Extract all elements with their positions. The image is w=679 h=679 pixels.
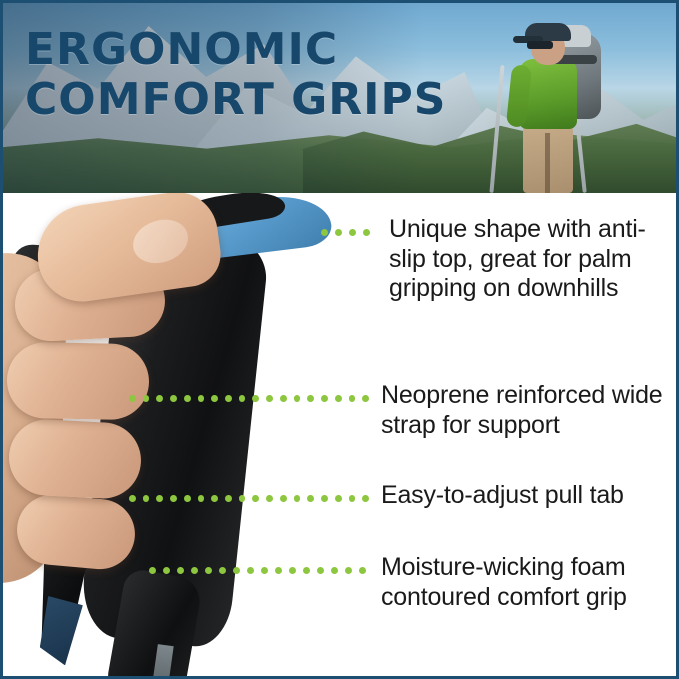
leader-dot — [335, 229, 342, 236]
leader-dot — [252, 495, 259, 502]
leader-dot — [239, 395, 246, 402]
product-infographic: ERGONOMIC COMFORT GRIPS — [0, 0, 679, 679]
leader-dot — [266, 395, 273, 402]
leader-dot — [184, 495, 191, 502]
leader-dot — [321, 229, 328, 236]
leader-dot — [143, 395, 150, 402]
leader-dot — [239, 495, 246, 502]
leader-dot — [163, 567, 170, 574]
leader-dot — [233, 567, 240, 574]
leader-dot — [211, 495, 218, 502]
leader-dot — [198, 495, 205, 502]
leader-dot — [280, 495, 287, 502]
leader-dot — [170, 495, 177, 502]
leader-dot — [362, 495, 369, 502]
leader-dot — [294, 495, 301, 502]
leader-dot — [198, 395, 205, 402]
product-photo-area: Unique shape with anti-slip top, great f… — [3, 193, 679, 679]
callout-foam-grip: Moisture-wicking foam contoured comfort … — [149, 553, 679, 612]
callout-pull-tab: Easy-to-adjust pull tab — [129, 481, 624, 511]
hiker-leg-split — [545, 133, 550, 193]
callout-dot-leader — [129, 381, 369, 402]
callout-label: Unique shape with anti-slip top, great f… — [389, 215, 679, 304]
leader-dot — [331, 567, 338, 574]
leader-dot — [317, 567, 324, 574]
leader-dot — [349, 395, 356, 402]
leader-dot — [345, 567, 352, 574]
callout-unique-shape: Unique shape with anti-slip top, great f… — [321, 215, 679, 304]
leader-dot — [205, 567, 212, 574]
title-line-2: COMFORT GRIPS — [25, 79, 455, 121]
leader-dot — [362, 395, 369, 402]
leader-dot — [359, 567, 366, 574]
leader-dot — [156, 395, 163, 402]
leader-dot — [275, 567, 282, 574]
header-banner: ERGONOMIC COMFORT GRIPS — [3, 3, 679, 193]
callout-dot-leader — [129, 481, 369, 502]
leader-dot — [225, 495, 232, 502]
leader-dot — [252, 395, 259, 402]
finger-ring — [7, 418, 143, 501]
leader-dot — [129, 395, 136, 402]
callout-dot-leader — [321, 215, 377, 236]
leader-dot — [266, 495, 273, 502]
leader-dot — [129, 495, 136, 502]
sunglasses-icon — [527, 41, 553, 49]
leader-dot — [170, 395, 177, 402]
thumb-nail — [127, 213, 193, 270]
leader-dot — [349, 229, 356, 236]
callout-label: Moisture-wicking foam contoured comfort … — [381, 553, 679, 612]
leader-dot — [211, 395, 218, 402]
leader-dot — [289, 567, 296, 574]
leader-dot — [149, 567, 156, 574]
leader-dot — [335, 395, 342, 402]
leader-dot — [303, 567, 310, 574]
leader-dot — [321, 395, 328, 402]
leader-dot — [184, 395, 191, 402]
leader-dot — [349, 495, 356, 502]
leader-dot — [307, 395, 314, 402]
title-line-1: ERGONOMIC — [25, 24, 338, 75]
page-title: ERGONOMIC COMFORT GRIPS — [25, 29, 455, 121]
callout-dot-leader — [149, 553, 369, 574]
leader-dot — [321, 495, 328, 502]
callout-neoprene-strap: Neoprene reinforced wide strap for suppo… — [129, 381, 679, 440]
leader-dot — [143, 495, 150, 502]
leader-dot — [261, 567, 268, 574]
leader-dot — [225, 395, 232, 402]
leader-dot — [363, 229, 370, 236]
hiker-figure — [473, 3, 673, 193]
leader-dot — [219, 567, 226, 574]
leader-dot — [280, 395, 287, 402]
leader-dot — [335, 495, 342, 502]
leader-dot — [307, 495, 314, 502]
leader-dot — [177, 567, 184, 574]
trekking-pole-left — [489, 65, 504, 193]
leader-dot — [156, 495, 163, 502]
callout-label: Neoprene reinforced wide strap for suppo… — [381, 381, 679, 440]
callout-label: Easy-to-adjust pull tab — [381, 481, 624, 511]
leader-dot — [294, 395, 301, 402]
leader-dot — [247, 567, 254, 574]
leader-dot — [191, 567, 198, 574]
